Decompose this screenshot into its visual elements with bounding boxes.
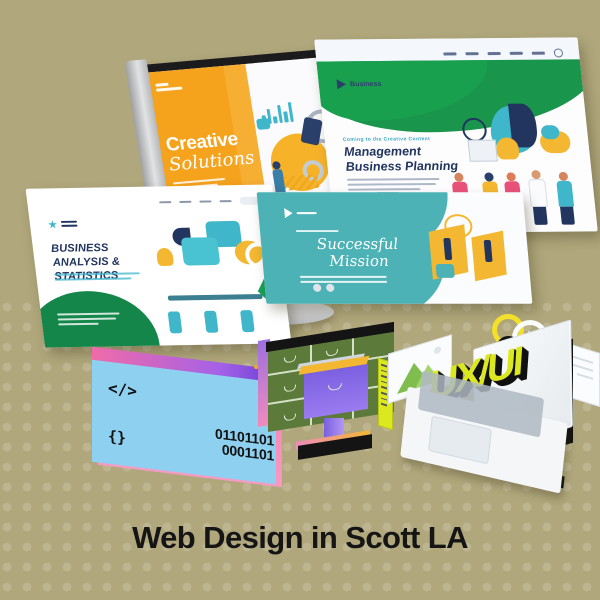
mission-illustration <box>425 210 531 296</box>
illustration-desk <box>168 294 263 301</box>
illustration-person <box>555 172 576 225</box>
illustration-speech-bubble <box>256 118 271 130</box>
illustration-chart-card <box>468 140 498 162</box>
drawer-handle[interactable] <box>328 383 342 391</box>
management-kicker: Coming to the Creative Content <box>343 136 431 143</box>
business-logo: Business <box>336 79 381 89</box>
code-brace-icon: {} <box>108 427 126 447</box>
business-analysis-nav <box>159 197 263 207</box>
illustration-stopwatch-icon <box>461 118 488 142</box>
illustration-chair <box>168 311 183 333</box>
business-analysis-blob-text <box>57 312 125 328</box>
illustration-chat-bubble <box>181 237 221 265</box>
mission-title: Successful Mission <box>297 236 420 269</box>
drawer-handle[interactable] <box>284 356 296 364</box>
illustration-zigzag <box>283 174 319 191</box>
illustration-chair <box>204 311 219 333</box>
illustration-cyan-shape <box>436 264 455 278</box>
business-logo-label: Business <box>350 80 382 87</box>
isometric-laptop: UX/UI <box>392 318 592 503</box>
illustration-chair <box>240 310 255 332</box>
code-tag-icon: </> <box>108 378 137 401</box>
illustration-lightbulb <box>156 248 174 266</box>
sun-icon <box>434 346 441 355</box>
business-analysis-subtext <box>54 272 144 283</box>
drawer-handle[interactable] <box>326 349 338 357</box>
mission-pagination-dots <box>313 284 335 292</box>
mission-divider <box>296 230 338 232</box>
drawer-handle[interactable] <box>284 385 296 393</box>
logo-triangle-icon <box>336 79 346 89</box>
code-browser-window: </> {} 01101101 0001101 <box>90 358 282 476</box>
search-icon <box>553 48 563 57</box>
management-card-nav <box>443 48 563 58</box>
star-icon <box>48 220 58 229</box>
drawer-handle[interactable] <box>284 414 296 422</box>
logo-triangle-icon <box>284 208 293 218</box>
poster-canvas: Creative Solutions <box>0 0 600 600</box>
page-title: Web Design in Scott LA <box>0 520 600 556</box>
business-analysis-logo <box>48 220 78 229</box>
mission-logo <box>284 208 317 218</box>
mission-card: Successful Mission <box>257 192 533 304</box>
illustration-person <box>527 170 550 225</box>
business-analysis-card: BUSINESS ANALYSIS & STATISTICS <box>26 184 292 347</box>
illustration-cyan-bubble <box>540 125 560 139</box>
